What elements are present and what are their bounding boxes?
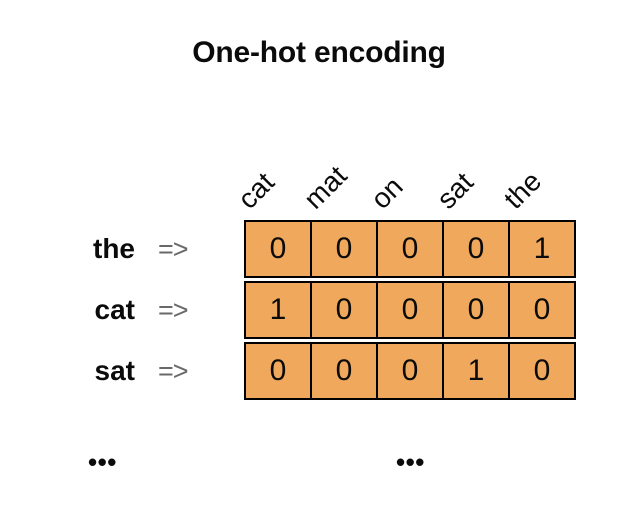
row-arrow-icon: => bbox=[158, 342, 228, 400]
column-header-label: cat bbox=[233, 168, 279, 214]
row-arrow-icon: => bbox=[158, 281, 228, 339]
matrix-continuation-ellipsis: ••• bbox=[396, 449, 425, 475]
column-header-the: the bbox=[510, 120, 576, 216]
matrix-cell: 1 bbox=[246, 283, 312, 337]
row-arrow-icon: => bbox=[158, 220, 228, 278]
column-header-cat: cat bbox=[244, 120, 310, 216]
column-header-sat: sat bbox=[443, 120, 509, 216]
matrix-cell: 0 bbox=[510, 344, 574, 398]
matrix-cell: 0 bbox=[378, 344, 444, 398]
matrix-cell: 0 bbox=[510, 283, 574, 337]
row-vector-sat: 0 0 0 1 0 bbox=[244, 342, 576, 400]
row-vector-cat: 1 0 0 0 0 bbox=[244, 281, 576, 339]
matrix-cell: 0 bbox=[246, 222, 312, 276]
matrix-cell: 0 bbox=[312, 222, 378, 276]
row-vector-the: 0 0 0 0 1 bbox=[244, 220, 576, 278]
column-header-row: cat mat on sat the bbox=[244, 120, 576, 216]
row-label-cat: cat bbox=[30, 281, 135, 339]
column-header-on: on bbox=[377, 120, 443, 216]
matrix-cell: 0 bbox=[444, 222, 510, 276]
matrix-cell: 0 bbox=[246, 344, 312, 398]
matrix-cell: 0 bbox=[444, 283, 510, 337]
matrix-cell: 0 bbox=[378, 283, 444, 337]
matrix-cell: 1 bbox=[510, 222, 574, 276]
column-header-mat: mat bbox=[310, 120, 376, 216]
row-label-sat: sat bbox=[30, 342, 135, 400]
matrix-cell: 0 bbox=[312, 344, 378, 398]
row-continuation-ellipsis: ••• bbox=[88, 449, 117, 475]
figure-title: One-hot encoding bbox=[0, 36, 638, 70]
matrix-cell: 0 bbox=[312, 283, 378, 337]
matrix-cell: 1 bbox=[444, 344, 510, 398]
row-label-the: the bbox=[30, 220, 135, 278]
matrix-cell: 0 bbox=[378, 222, 444, 276]
one-hot-encoding-figure: One-hot encoding cat mat on sat the the … bbox=[0, 0, 638, 522]
